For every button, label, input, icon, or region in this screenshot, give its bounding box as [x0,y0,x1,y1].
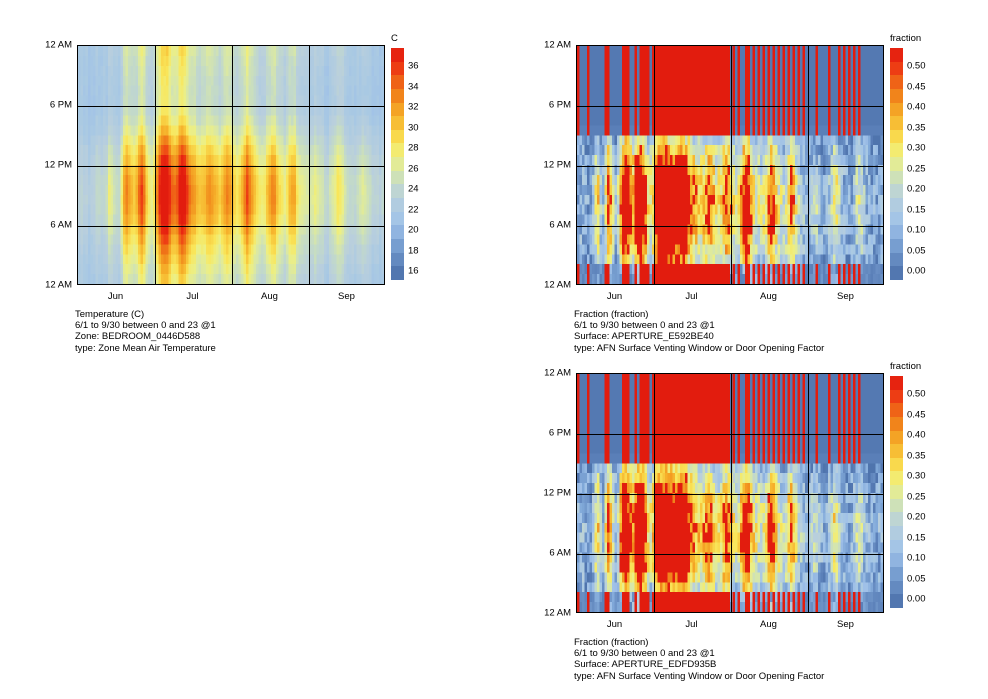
colorbar-tick-label: 0.05 [907,573,926,584]
colorbar-segment [890,594,903,608]
y-tick-label: 12 AM [45,40,72,51]
chart-caption-aperture-e592be40: Fraction (fraction)6/1 to 9/30 between 0… [574,309,824,354]
caption-line2: 6/1 to 9/30 between 0 and 23 @1 [574,648,824,659]
caption-line4: type: Zone Mean Air Temperature [75,343,216,354]
x-tick-label: Aug [760,291,777,302]
y-tick-label: 6 PM [549,100,571,111]
plot-area-aperture-edfd935b [576,373,884,613]
colorbar-segment [890,540,903,554]
colorbar-gradient-strip [391,48,404,280]
colorbar-segment [890,225,903,239]
y-tick-label: 12 AM [45,280,72,291]
caption-line3: Zone: BEDROOM_0446D588 [75,331,216,342]
colorbar-tick-label: 16 [408,266,419,277]
colorbar-tick-label: 34 [408,81,419,92]
colorbar-tick-label: 0.20 [907,512,926,523]
colorbar-segment [890,512,903,526]
chart-caption-aperture-edfd935b: Fraction (fraction)6/1 to 9/30 between 0… [574,637,824,682]
colorbar-tick-label: 28 [408,143,419,154]
colorbar-segment [391,184,404,198]
colorbar-tick-label: 0.10 [907,225,926,236]
colorbar-gradient-strip [890,376,903,608]
colorbar-tick-label: 0.05 [907,245,926,256]
y-tick-label: 12 PM [544,160,571,171]
caption-line2: 6/1 to 9/30 between 0 and 23 @1 [75,320,216,331]
x-tick-label: Jun [607,619,622,630]
colorbar-tick-label: 0.00 [907,266,926,277]
colorbar-tick-label: 30 [408,122,419,133]
colorbar-tick-label: 0.10 [907,553,926,564]
x-tick-label: Jun [607,291,622,302]
colorbar-segment [890,499,903,513]
colorbar-segment [890,157,903,171]
caption-line1: Temperature (C) [75,309,216,320]
colorbar-aperture-edfd935b: fraction0.500.450.400.350.300.250.200.15… [890,376,950,608]
y-tick-label: 6 AM [549,220,571,231]
colorbar-segment [391,212,404,226]
colorbar-segment [890,471,903,485]
colorbar-tick-label: 0.45 [907,81,926,92]
x-tick-label: Sep [837,291,854,302]
y-tick-label: 12 AM [544,40,571,51]
caption-line4: type: AFN Surface Venting Window or Door… [574,671,824,682]
colorbar-segment [890,266,903,280]
colorbar-segment [890,431,903,445]
colorbar-segment [890,62,903,76]
colorbar-tick-label: 0.25 [907,491,926,502]
colorbar-tick-label: 0.40 [907,102,926,113]
colorbar-segment [890,526,903,540]
colorbar-tick-label: 0.15 [907,532,926,543]
colorbar-tick-label: 0.00 [907,594,926,605]
colorbar-segment [391,75,404,89]
x-tick-label: Sep [338,291,355,302]
colorbar-tick-label: 0.30 [907,471,926,482]
colorbar-zone-mean-air-temperature: C3634323028262422201816 [391,48,451,280]
y-tick-label: 12 AM [544,608,571,619]
x-tick-label: Jul [186,291,198,302]
colorbar-tick-label: 36 [408,61,419,72]
colorbar-segment [890,184,903,198]
caption-line1: Fraction (fraction) [574,309,824,320]
colorbar-segment [890,253,903,267]
colorbar-segment [391,143,404,157]
y-tick-label: 6 PM [549,428,571,439]
colorbar-tick-label: 0.40 [907,430,926,441]
y-tick-label: 12 PM [544,488,571,499]
heatmap-canvas [577,46,883,284]
colorbar-segment [890,171,903,185]
colorbar-segment [890,390,903,404]
x-tick-label: Aug [261,291,278,302]
colorbar-tick-label: 0.45 [907,409,926,420]
plot-area-zone-mean-air-temperature [77,45,385,285]
colorbar-tick-label: 0.25 [907,163,926,174]
colorbar-tick-label: 18 [408,245,419,256]
colorbar-segment [890,75,903,89]
colorbar-tick-label: 0.50 [907,389,926,400]
colorbar-segment [391,239,404,253]
colorbar-tick-label: 26 [408,163,419,174]
caption-line4: type: AFN Surface Venting Window or Door… [574,343,824,354]
colorbar-segment [890,143,903,157]
colorbar-segment [890,239,903,253]
colorbar-tick-label: 0.35 [907,450,926,461]
colorbar-title: fraction [890,361,921,372]
caption-line3: Surface: APERTURE_E592BE40 [574,331,824,342]
colorbar-segment [391,266,404,280]
x-tick-label: Aug [760,619,777,630]
colorbar-tick-label: 0.50 [907,61,926,72]
colorbar-segment [391,157,404,171]
colorbar-gradient-strip [890,48,903,280]
colorbar-segment [890,458,903,472]
caption-line3: Surface: APERTURE_EDFD935B [574,659,824,670]
colorbar-segment [890,581,903,595]
y-axis-aperture-e592be40: 12 AM6 PM12 PM6 AM12 AM [527,45,571,285]
heatmap-canvas [577,374,883,612]
chart-caption-zone-mean-air-temperature: Temperature (C)6/1 to 9/30 between 0 and… [75,309,216,354]
colorbar-segment [890,417,903,431]
colorbar-segment [391,89,404,103]
y-axis-zone-mean-air-temperature: 12 AM6 PM12 PM6 AM12 AM [28,45,72,285]
y-tick-label: 6 PM [50,100,72,111]
colorbar-segment [890,116,903,130]
x-tick-label: Jul [685,619,697,630]
colorbar-tick-label: 32 [408,102,419,113]
colorbar-segment [890,553,903,567]
x-tick-label: Jul [685,291,697,302]
colorbar-title: fraction [890,33,921,44]
y-tick-label: 6 AM [549,548,571,559]
colorbar-segment [890,130,903,144]
y-tick-label: 12 PM [45,160,72,171]
colorbar-segment [391,198,404,212]
colorbar-segment [391,225,404,239]
colorbar-segment [890,567,903,581]
colorbar-segment [890,485,903,499]
colorbar-tick-label: 24 [408,184,419,195]
colorbar-segment [391,103,404,117]
y-tick-label: 6 AM [50,220,72,231]
colorbar-segment [890,103,903,117]
colorbar-tick-label: 22 [408,204,419,215]
colorbar-tick-label: 20 [408,225,419,236]
y-tick-label: 12 AM [544,368,571,379]
y-tick-label: 12 AM [544,280,571,291]
heatmap-canvas [78,46,384,284]
colorbar-segment [391,62,404,76]
colorbar-segment [890,198,903,212]
colorbar-tick-label: 0.15 [907,204,926,215]
colorbar-segment [391,171,404,185]
colorbar-segment [391,253,404,267]
colorbar-segment [391,48,404,62]
colorbar-tick-label: 0.35 [907,122,926,133]
y-axis-aperture-edfd935b: 12 AM6 PM12 PM6 AM12 AM [527,373,571,613]
plot-area-aperture-e592be40 [576,45,884,285]
colorbar-segment [890,48,903,62]
colorbar-tick-label: 0.20 [907,184,926,195]
colorbar-tick-label: 0.30 [907,143,926,154]
colorbar-segment [890,89,903,103]
colorbar-aperture-e592be40: fraction0.500.450.400.350.300.250.200.15… [890,48,950,280]
colorbar-segment [890,403,903,417]
colorbar-segment [890,376,903,390]
colorbar-title: C [391,33,398,44]
x-tick-label: Sep [837,619,854,630]
colorbar-segment [391,116,404,130]
x-tick-label: Jun [108,291,123,302]
colorbar-segment [890,212,903,226]
caption-line1: Fraction (fraction) [574,637,824,648]
colorbar-segment [391,130,404,144]
colorbar-segment [890,444,903,458]
caption-line2: 6/1 to 9/30 between 0 and 23 @1 [574,320,824,331]
